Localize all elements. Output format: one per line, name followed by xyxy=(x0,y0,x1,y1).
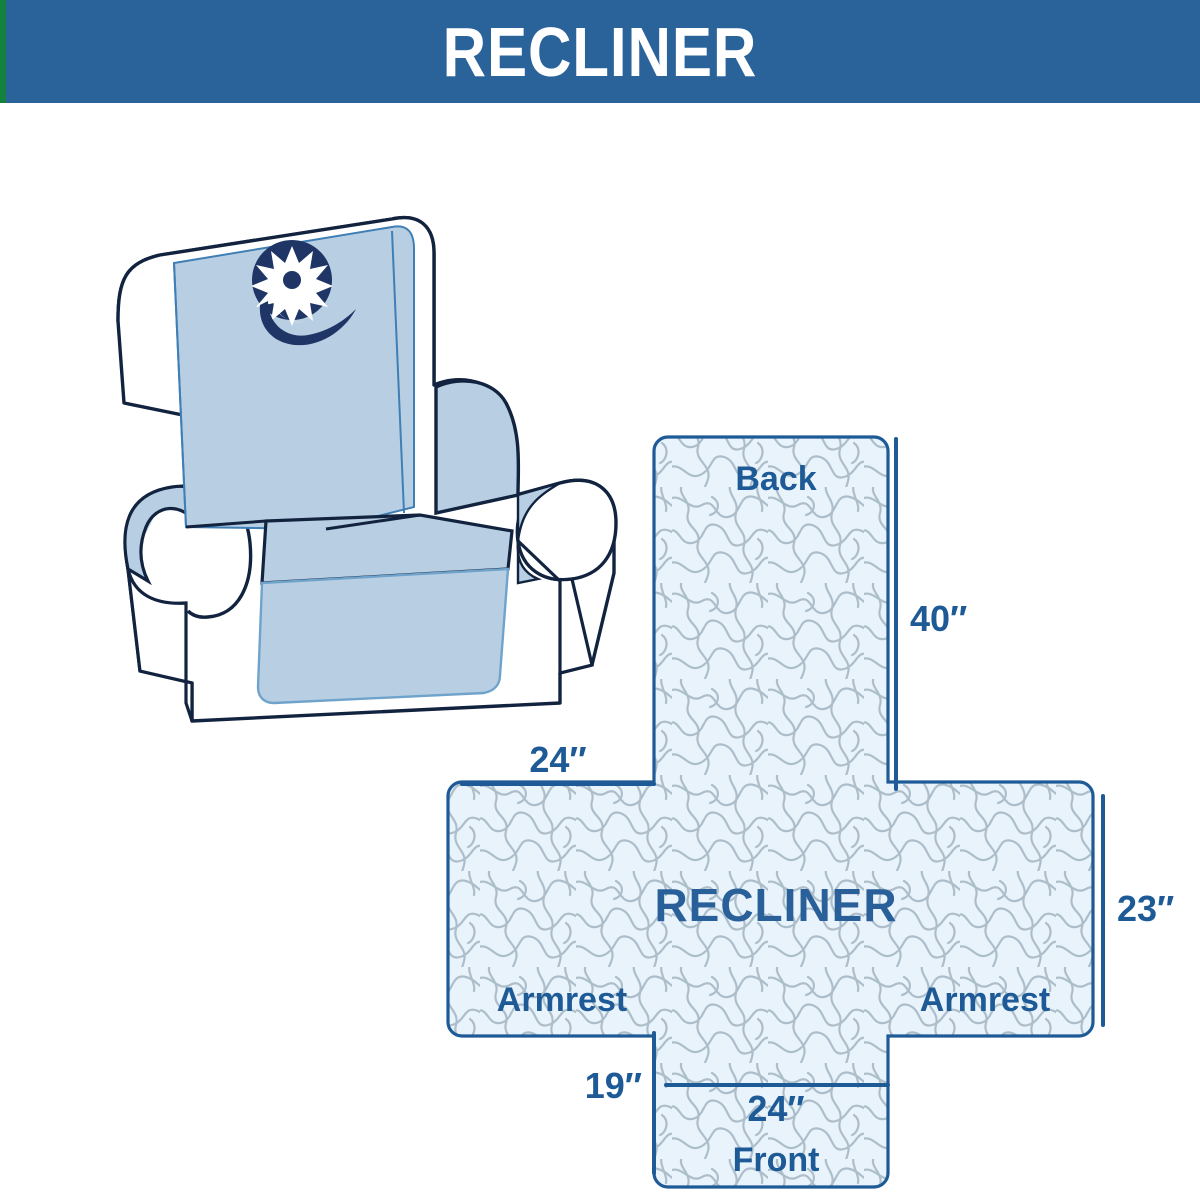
dimension-value-24-bottom: 24″ xyxy=(747,1088,804,1129)
label-armrest-right: Armrest xyxy=(920,981,1050,1019)
label-center-recliner: RECLINER xyxy=(654,879,897,931)
page-header: RECLINER xyxy=(0,0,1200,103)
product-and-pattern-artwork: Back RECLINER Armrest Armrest Front 40″ … xyxy=(0,103,1200,1200)
dimension-back-height: 40″ xyxy=(896,439,967,789)
diagram-canvas: Back RECLINER Armrest Armrest Front 40″ … xyxy=(0,103,1200,1200)
label-front: Front xyxy=(733,1141,820,1179)
dimension-back-width: 24″ xyxy=(462,739,654,784)
label-back: Back xyxy=(735,460,816,498)
dimension-value-23: 23″ xyxy=(1117,888,1174,929)
dimension-body-height: 23″ xyxy=(1103,796,1174,1025)
page-title: RECLINER xyxy=(443,17,758,87)
recliner-chair-illustration xyxy=(118,218,616,721)
dimension-front-height: 19″ xyxy=(585,1033,654,1173)
chair-seat-cover xyxy=(258,515,512,703)
label-armrest-left: Armrest xyxy=(497,981,627,1019)
dimension-value-19: 19″ xyxy=(585,1065,642,1106)
dimension-value-40: 40″ xyxy=(910,598,967,639)
header-accent-stripe xyxy=(0,0,6,103)
dimension-value-24-top: 24″ xyxy=(529,739,586,780)
